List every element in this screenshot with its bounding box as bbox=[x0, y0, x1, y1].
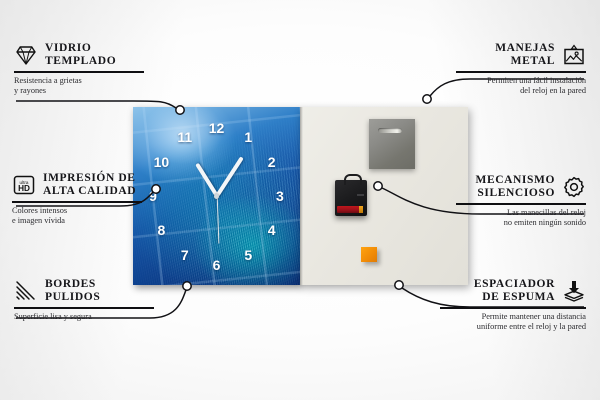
callout-mecanismo-silencioso: MECANISMO SILENCIOSO Las manecillas del … bbox=[456, 174, 586, 229]
callout-espaciador-espuma: ESPACIADOR DE ESPUMA Permite mantener un… bbox=[440, 278, 586, 333]
metal-hanger-plate bbox=[369, 119, 415, 169]
callout-title: MANEJAS METAL bbox=[495, 42, 555, 68]
mechanism-battery bbox=[337, 206, 363, 213]
polished-edges-icon bbox=[14, 279, 38, 303]
diamond-icon bbox=[14, 43, 38, 67]
callout-description: Resistencia a grietas y rayones bbox=[14, 76, 144, 97]
callout-rule bbox=[12, 201, 142, 203]
clock-numeral-7: 7 bbox=[181, 248, 189, 262]
callout-header: ultra HD IMPRESIÓN DE ALTA CALIDAD bbox=[12, 172, 142, 198]
svg-text:HD: HD bbox=[18, 184, 30, 193]
foam-spacer-icon bbox=[562, 279, 586, 303]
callout-title: IMPRESIÓN DE ALTA CALIDAD bbox=[43, 172, 136, 198]
callout-impresion-alta-calidad: ultra HD IMPRESIÓN DE ALTA CALIDAD Color… bbox=[12, 172, 142, 227]
clock-numeral-10: 10 bbox=[154, 155, 170, 169]
callout-rule bbox=[14, 71, 144, 73]
callout-rule bbox=[14, 307, 154, 309]
clock-numeral-11: 11 bbox=[177, 130, 192, 144]
hanger-slot bbox=[378, 128, 402, 133]
ultra-hd-icon: ultra HD bbox=[12, 173, 36, 197]
callout-header: BORDES PULIDOS bbox=[14, 278, 154, 304]
callout-description: Superficie lisa y segura bbox=[14, 312, 154, 323]
clock-numeral-3: 3 bbox=[276, 189, 284, 203]
callout-header: MECANISMO SILENCIOSO bbox=[456, 174, 586, 200]
infographic-canvas: 12 1 2 3 4 5 6 7 8 9 10 11 bbox=[0, 0, 600, 400]
callout-vidrio-templado: VIDRIO TEMPLADO Resistencia a grietas y … bbox=[14, 42, 144, 97]
mechanism-hanger-loop bbox=[344, 174, 362, 185]
picture-hanger-icon bbox=[562, 43, 586, 67]
clock-numeral-12: 12 bbox=[209, 121, 225, 135]
mechanism-detail bbox=[357, 194, 364, 196]
clock-center-cap bbox=[214, 194, 219, 199]
callout-bordes-pulidos: BORDES PULIDOS Superficie lisa y segura bbox=[14, 278, 154, 322]
callout-rule bbox=[456, 71, 586, 73]
callout-header: MANEJAS METAL bbox=[456, 42, 586, 68]
callout-description: Permite mantener una distancia uniforme … bbox=[440, 312, 586, 333]
clock-numeral-1: 1 bbox=[244, 130, 252, 144]
clock-numeral-2: 2 bbox=[268, 155, 276, 169]
callout-title: ESPACIADOR DE ESPUMA bbox=[474, 278, 555, 304]
callout-header: ESPACIADOR DE ESPUMA bbox=[440, 278, 586, 304]
callout-title: BORDES PULIDOS bbox=[45, 278, 100, 304]
callout-title: MECANISMO SILENCIOSO bbox=[475, 174, 555, 200]
foam-spacer bbox=[361, 247, 377, 262]
callout-description: Permiten una fácil instalación del reloj… bbox=[456, 76, 586, 97]
clock-numeral-9: 9 bbox=[149, 189, 157, 203]
callout-rule bbox=[456, 203, 586, 205]
callout-manejas-metal: MANEJAS METAL Permiten una fácil instala… bbox=[456, 42, 586, 97]
clock-numeral-6: 6 bbox=[213, 258, 221, 272]
gear-icon bbox=[562, 175, 586, 199]
callout-rule bbox=[440, 307, 586, 309]
clock-front-view: 12 1 2 3 4 5 6 7 8 9 10 11 bbox=[133, 107, 300, 285]
callout-header: VIDRIO TEMPLADO bbox=[14, 42, 144, 68]
callout-description: Colores intensos e imagen vívida bbox=[12, 206, 142, 227]
clock-numeral-8: 8 bbox=[157, 223, 165, 237]
callout-title: VIDRIO TEMPLADO bbox=[45, 42, 116, 68]
quartz-mechanism bbox=[335, 180, 367, 216]
clock-numeral-5: 5 bbox=[244, 248, 252, 262]
callout-description: Las manecillas del reloj no emiten ningú… bbox=[456, 208, 586, 229]
clock-numeral-4: 4 bbox=[268, 223, 276, 237]
clock-back-view bbox=[300, 107, 468, 285]
product-photo: 12 1 2 3 4 5 6 7 8 9 10 11 bbox=[133, 107, 468, 285]
